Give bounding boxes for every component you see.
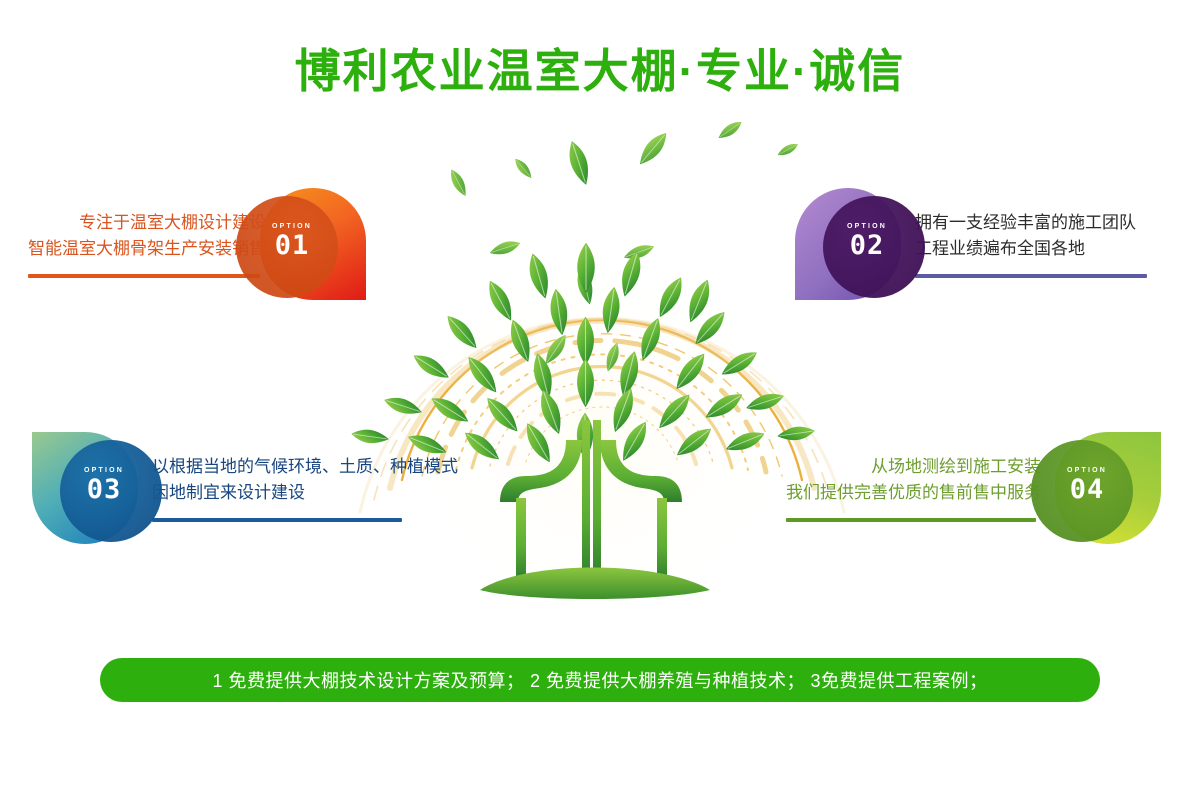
option-03-line1: 以根据当地的气候环境、土质、种植模式 xyxy=(152,454,458,480)
option-04-badge-label: OPTION 04 xyxy=(1059,466,1115,504)
poster-canvas: 博利农业温室大棚·专业·诚信 xyxy=(0,0,1200,785)
option-04-number: 04 xyxy=(1059,475,1115,504)
option-01-underline xyxy=(28,274,260,278)
option-03-badge-label: OPTION 03 xyxy=(76,466,132,504)
option-block-03[interactable]: OPTION 03 以根据当地的气候环境、土质、种植模式 因地制宜来设计建设 xyxy=(32,432,458,544)
option-01-text: 专注于温室大棚设计建设 智能温室大棚骨架生产安装销售 xyxy=(28,210,266,278)
option-block-01[interactable]: 专注于温室大棚设计建设 智能温室大棚骨架生产安装销售 OPTION 01 xyxy=(28,188,366,300)
option-block-02[interactable]: OPTION 02 拥有一支经验丰富的施工团队 工程业绩遍布全国各地 xyxy=(795,188,1147,300)
option-03-text: 以根据当地的气候环境、土质、种植模式 因地制宜来设计建设 xyxy=(152,454,458,522)
option-04-line1: 从场地测绘到施工安装 xyxy=(871,454,1041,480)
option-04-badge[interactable]: OPTION 04 xyxy=(1055,432,1161,544)
option-02-badge-label: OPTION 02 xyxy=(839,222,895,260)
option-01-badge-label: OPTION 01 xyxy=(264,222,320,260)
option-02-line1: 拥有一支经验丰富的施工团队 xyxy=(915,210,1136,236)
option-03-underline xyxy=(152,518,402,522)
option-02-line2: 工程业绩遍布全国各地 xyxy=(915,236,1085,262)
option-04-underline xyxy=(786,518,1036,522)
option-01-badge[interactable]: OPTION 01 xyxy=(260,188,366,300)
option-block-04[interactable]: 从场地测绘到施工安装 我们提供完善优质的售前售中服务 OPTION 04 xyxy=(786,432,1161,544)
option-03-number: 03 xyxy=(76,475,132,504)
option-01-line2: 智能温室大棚骨架生产安装销售 xyxy=(28,236,266,262)
services-banner[interactable]: 1 免费提供大棚技术设计方案及预算； 2 免费提供大棚养殖与种植技术； 3免费提… xyxy=(100,658,1100,702)
option-02-badge[interactable]: OPTION 02 xyxy=(795,188,901,300)
option-03-line2: 因地制宜来设计建设 xyxy=(152,480,305,506)
option-02-underline xyxy=(915,274,1147,278)
page-title: 博利农业温室大棚·专业·诚信 xyxy=(0,44,1200,99)
option-02-text: 拥有一支经验丰富的施工团队 工程业绩遍布全国各地 xyxy=(915,210,1147,278)
green-tree-illustration xyxy=(330,120,870,640)
option-01-number: 01 xyxy=(264,231,320,260)
option-03-badge[interactable]: OPTION 03 xyxy=(32,432,138,544)
option-04-line2: 我们提供完善优质的售前售中服务 xyxy=(786,480,1041,506)
option-04-text: 从场地测绘到施工安装 我们提供完善优质的售前售中服务 xyxy=(786,454,1041,522)
services-banner-text: 1 免费提供大棚技术设计方案及预算； 2 免费提供大棚养殖与种植技术； 3免费提… xyxy=(212,667,987,693)
option-02-number: 02 xyxy=(839,231,895,260)
